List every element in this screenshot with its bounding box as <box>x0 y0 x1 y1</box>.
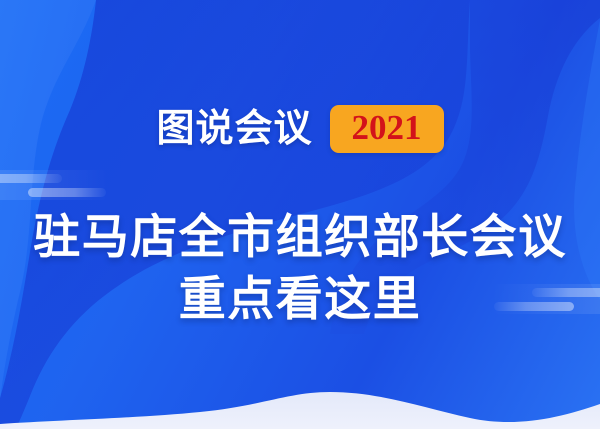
kicker-row: 图说会议 2021 <box>0 104 600 154</box>
bottom-wave <box>0 392 600 429</box>
kicker-label: 图说会议 <box>156 108 312 150</box>
headline-line-2: 重点看这里 <box>0 268 600 330</box>
year-badge-label: 2021 <box>352 109 422 147</box>
meeting-poster-banner: 图说会议 2021 驻马店全市组织部长会议 重点看这里 <box>0 0 600 429</box>
headline-line-1: 驻马店全市组织部长会议 <box>0 206 600 268</box>
headline: 驻马店全市组织部长会议 重点看这里 <box>0 206 600 330</box>
year-badge: 2021 <box>330 105 444 153</box>
